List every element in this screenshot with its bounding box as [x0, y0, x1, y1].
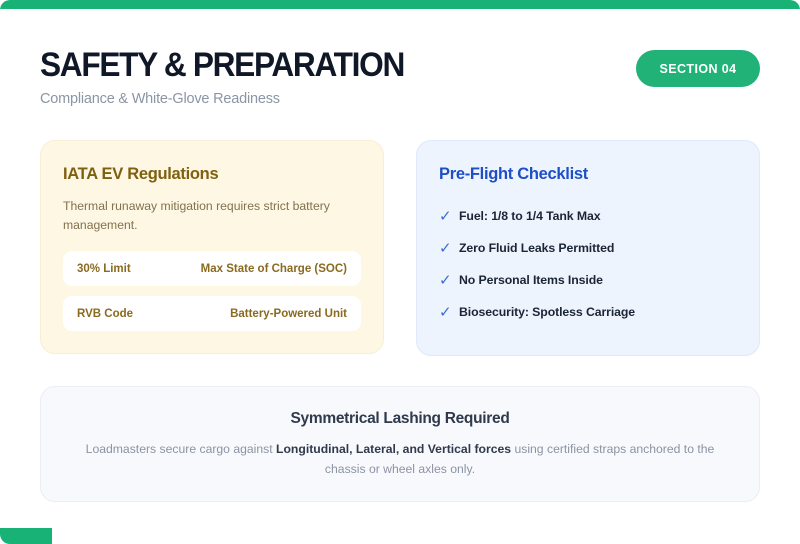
list-item: ✓ Zero Fluid Leaks Permitted [439, 232, 737, 264]
preflight-checklist-card: Pre-Flight Checklist ✓ Fuel: 1/8 to 1/4 … [416, 140, 760, 356]
list-item-label: Zero Fluid Leaks Permitted [459, 241, 614, 255]
note-body-prefix: Loadmasters secure cargo against [86, 442, 276, 456]
lashing-note-panel: Symmetrical Lashing Required Loadmasters… [40, 386, 760, 502]
checklist-card-title: Pre-Flight Checklist [439, 165, 737, 184]
check-mark-icon: ✓ [439, 209, 459, 224]
iata-card-title: IATA EV Regulations [63, 165, 361, 184]
check-mark-icon: ✓ [439, 273, 459, 288]
checklist-items: ✓ Fuel: 1/8 to 1/4 Tank Max ✓ Zero Fluid… [439, 200, 737, 328]
page-subtitle: Compliance & White-Glove Readiness [40, 90, 760, 108]
spec-value: Battery-Powered Unit [230, 308, 347, 320]
checklist-card-inner: Pre-Flight Checklist ✓ Fuel: 1/8 to 1/4 … [417, 141, 759, 328]
iata-regulations-card: IATA EV Regulations Thermal runaway miti… [40, 140, 384, 354]
iata-card-description: Thermal runaway mitigation requires stri… [63, 197, 353, 235]
top-accent-bar [0, 0, 800, 9]
section-badge-label: SECTION 04 [660, 62, 737, 76]
note-body: Loadmasters secure cargo against Longitu… [75, 439, 725, 479]
iata-card-inner: IATA EV Regulations Thermal runaway miti… [41, 141, 383, 331]
list-item-label: No Personal Items Inside [459, 273, 603, 287]
table-row: 30% Limit Max State of Charge (SOC) [63, 251, 361, 286]
note-title: Symmetrical Lashing Required [291, 410, 510, 428]
spec-key: 30% Limit [77, 263, 131, 275]
list-item: ✓ No Personal Items Inside [439, 264, 737, 296]
iata-spec-list: 30% Limit Max State of Charge (SOC) RVB … [63, 251, 361, 331]
slide-root: SAFETY & PREPARATION Compliance & White-… [0, 0, 800, 544]
page-title: SAFETY & PREPARATION [40, 46, 710, 84]
list-item-label: Fuel: 1/8 to 1/4 Tank Max [459, 209, 600, 223]
spec-key: RVB Code [77, 308, 133, 320]
check-mark-icon: ✓ [439, 305, 459, 320]
section-badge: SECTION 04 [636, 50, 760, 87]
list-item: ✓ Fuel: 1/8 to 1/4 Tank Max [439, 200, 737, 232]
note-body-emphasis: Longitudinal, Lateral, and Vertical forc… [276, 442, 511, 456]
check-mark-icon: ✓ [439, 241, 459, 256]
list-item: ✓ Biosecurity: Spotless Carriage [439, 296, 737, 328]
table-row: RVB Code Battery-Powered Unit [63, 296, 361, 331]
spec-value: Max State of Charge (SOC) [201, 263, 347, 275]
corner-accent-shape [0, 528, 52, 544]
list-item-label: Biosecurity: Spotless Carriage [459, 305, 635, 319]
